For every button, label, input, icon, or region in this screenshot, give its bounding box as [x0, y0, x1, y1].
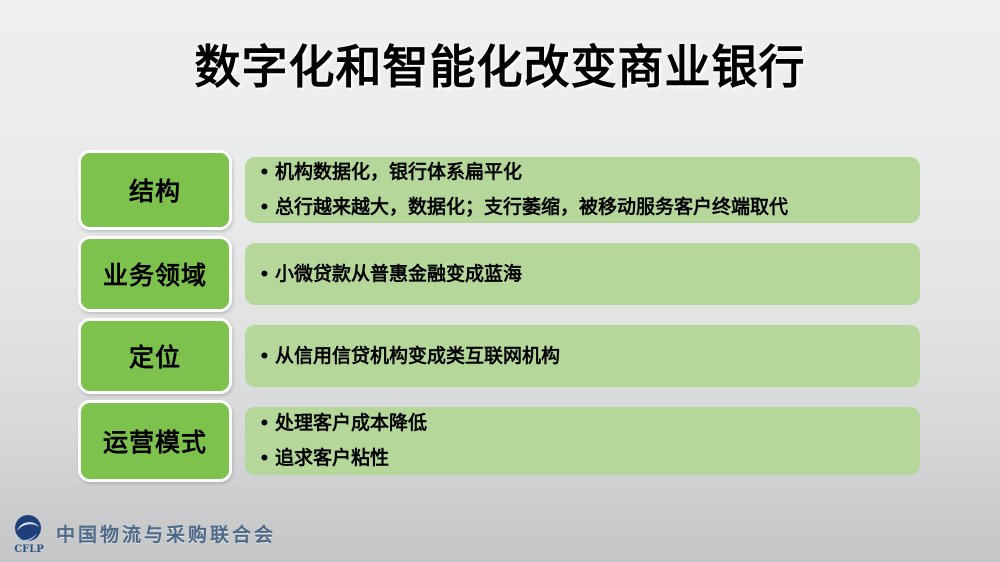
list-item: • 机构数据化，银行体系扁平化 [259, 155, 904, 190]
bullet-icon: • [259, 191, 275, 225]
row-label-operating-model[interactable]: 运营模式 [78, 400, 232, 482]
table-row: 定位 • 从信用信贷机构变成类互联网机构 [78, 318, 920, 394]
bullet-icon: • [259, 156, 275, 190]
table-row: 业务领域 • 小微贷款从普惠金融变成蓝海 [78, 236, 920, 312]
list-item-text: 机构数据化，银行体系扁平化 [275, 155, 522, 189]
list-item-text: 从信用信贷机构变成类互联网机构 [275, 339, 560, 373]
row-label-text: 业务领域 [103, 256, 207, 292]
table-row: 运营模式 • 处理客户成本降低 • 追求客户粘性 [78, 400, 920, 482]
footer-organization-name: 中国物流与采购联合会 [56, 520, 276, 547]
list-item: • 小微贷款从普惠金融变成蓝海 [259, 257, 904, 292]
slide-canvas: 数字化和智能化改变商业银行 结构 • 机构数据化，银行体系扁平化 • 总行越来越… [0, 0, 1000, 562]
table-row: 结构 • 机构数据化，银行体系扁平化 • 总行越来越大，数据化；支行萎缩，被移动… [78, 150, 920, 230]
row-label-text: 定位 [129, 338, 181, 374]
row-label-structure[interactable]: 结构 [78, 150, 232, 230]
list-item-text: 总行越来越大，数据化；支行萎缩，被移动服务客户终端取代 [275, 190, 788, 224]
row-label-business-area[interactable]: 业务领域 [78, 236, 232, 312]
row-content-positioning: • 从信用信贷机构变成类互联网机构 [245, 325, 920, 387]
list-item-text: 处理客户成本降低 [275, 406, 427, 440]
row-content-business-area: • 小微贷款从普惠金融变成蓝海 [245, 243, 920, 305]
bullet-icon: • [259, 258, 275, 292]
list-item: • 总行越来越大，数据化；支行萎缩，被移动服务客户终端取代 [259, 190, 904, 225]
row-label-text: 运营模式 [103, 423, 207, 459]
row-label-text: 结构 [129, 172, 181, 208]
content-rows: 结构 • 机构数据化，银行体系扁平化 • 总行越来越大，数据化；支行萎缩，被移动… [0, 0, 1000, 562]
list-item-text: 追求客户粘性 [275, 441, 389, 475]
row-content-operating-model: • 处理客户成本降低 • 追求客户粘性 [245, 407, 920, 475]
list-item-text: 小微贷款从普惠金融变成蓝海 [275, 257, 522, 291]
svg-text:CFLP: CFLP [14, 544, 44, 555]
list-item: • 处理客户成本降低 [259, 406, 904, 441]
bullet-icon: • [259, 340, 275, 374]
row-content-structure: • 机构数据化，银行体系扁平化 • 总行越来越大，数据化；支行萎缩，被移动服务客… [245, 157, 920, 223]
row-label-positioning[interactable]: 定位 [78, 318, 232, 394]
footer: CFLP 中国物流与采购联合会 [8, 510, 276, 556]
list-item: • 追求客户粘性 [259, 441, 904, 476]
bullet-icon: • [259, 442, 275, 476]
list-item: • 从信用信贷机构变成类互联网机构 [259, 339, 904, 374]
cflp-logo-icon: CFLP [8, 511, 50, 555]
bullet-icon: • [259, 407, 275, 441]
